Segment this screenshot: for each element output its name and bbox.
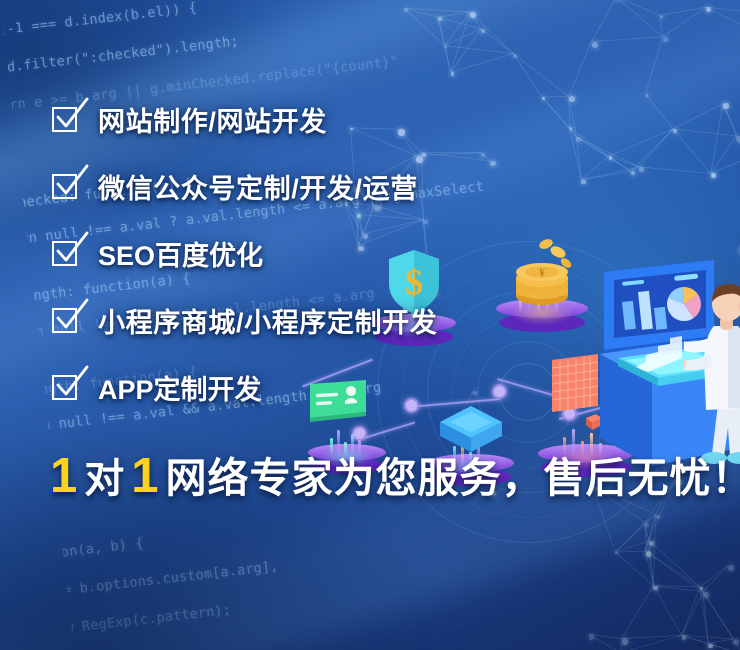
checked-checkbox-icon <box>52 238 82 268</box>
list-item: APP定制开发 <box>52 366 702 408</box>
tagline-main-text: 网络专家为您服务，售后无忧！ <box>166 458 740 499</box>
service-label: 微信公众号定制/开发/运营 <box>98 167 418 206</box>
mesh-particle <box>663 37 668 42</box>
service-list: 网站制作/网站开发 微信公众号定制/开发/运营 SEO百度优化 <box>52 98 702 433</box>
tagline-number-first: 1 <box>50 452 77 501</box>
checked-checkbox-icon <box>52 372 82 402</box>
list-item: 网站制作/网站开发 <box>52 98 702 140</box>
mesh-particle <box>708 644 712 648</box>
list-item: 微信公众号定制/开发/运营 <box>52 165 702 207</box>
mesh-particle <box>736 136 740 142</box>
background-code-line: if (-1 === d.index(b.el)) { <box>0 0 198 41</box>
list-item: SEO百度优化 <box>52 232 702 274</box>
checked-checkbox-icon <box>52 104 82 134</box>
mesh-particle <box>451 72 454 75</box>
service-label: APP定制开发 <box>98 368 262 407</box>
mesh-particle <box>660 16 663 19</box>
mesh-particle <box>723 103 728 108</box>
tagline-word-middle: 对 <box>84 459 124 499</box>
mesh-particle <box>622 638 628 644</box>
checked-checkbox-icon <box>52 171 82 201</box>
background-code-line: d = d.filter(":checked").length; <box>0 33 240 79</box>
service-label: SEO百度优化 <box>98 234 263 273</box>
mesh-particle <box>470 12 476 18</box>
mesh-particle <box>646 94 649 97</box>
mesh-particle <box>706 7 711 12</box>
tagline-number-second: 1 <box>131 452 158 501</box>
mesh-particle <box>513 54 517 58</box>
mesh-particle <box>728 565 734 571</box>
service-label: 网站制作/网站开发 <box>98 100 327 139</box>
mesh-particle <box>682 635 686 639</box>
list-item: 小程序商城/小程序定制开发 <box>52 299 702 341</box>
checked-checkbox-icon <box>52 305 82 335</box>
tagline: 1 对 1 网络专家为您服务，售后无忧！ <box>50 452 740 501</box>
mesh-particle <box>589 634 594 639</box>
service-label: 小程序商城/小程序定制开发 <box>98 301 437 340</box>
promo-banner: a.querySelectorAll("input[type=checkbox]… <box>0 0 740 650</box>
